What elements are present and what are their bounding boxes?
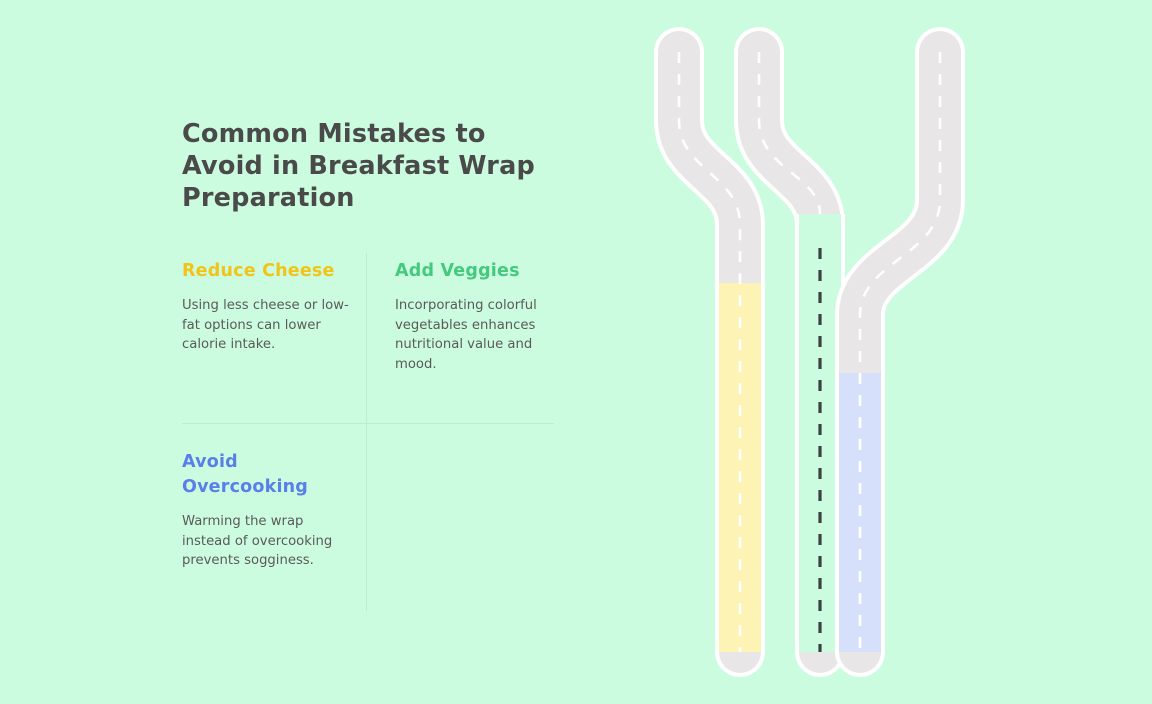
grid-horizontal-divider xyxy=(182,423,554,424)
card-add-veggies: Add Veggies Incorporating colorful veget… xyxy=(395,259,563,374)
grid-vertical-divider xyxy=(366,253,367,611)
cards-grid: Reduce Cheese Using less cheese or low-f… xyxy=(182,253,554,611)
page-title: Common Mistakes to Avoid in Breakfast Wr… xyxy=(182,118,554,214)
card-body-reduce-cheese: Using less cheese or low-fat options can… xyxy=(182,296,350,355)
text-content: Common Mistakes to Avoid in Breakfast Wr… xyxy=(182,118,562,214)
roads-illustration xyxy=(600,0,1152,704)
card-title-avoid-overcooking: Avoid Overcooking xyxy=(182,450,350,500)
card-title-add-veggies: Add Veggies xyxy=(395,259,563,284)
card-title-reduce-cheese: Reduce Cheese xyxy=(182,259,350,284)
road-cheese xyxy=(679,52,740,652)
road-steam xyxy=(860,52,940,652)
card-body-avoid-overcooking: Warming the wrap instead of overcooking … xyxy=(182,512,350,571)
infographic-canvas: Common Mistakes to Avoid in Breakfast Wr… xyxy=(0,0,1152,704)
card-body-add-veggies: Incorporating colorful vegetables enhanc… xyxy=(395,296,563,374)
card-avoid-overcooking: Avoid Overcooking Warming the wrap inste… xyxy=(182,450,350,571)
card-reduce-cheese: Reduce Cheese Using less cheese or low-f… xyxy=(182,259,350,355)
road-veggies xyxy=(759,52,820,652)
